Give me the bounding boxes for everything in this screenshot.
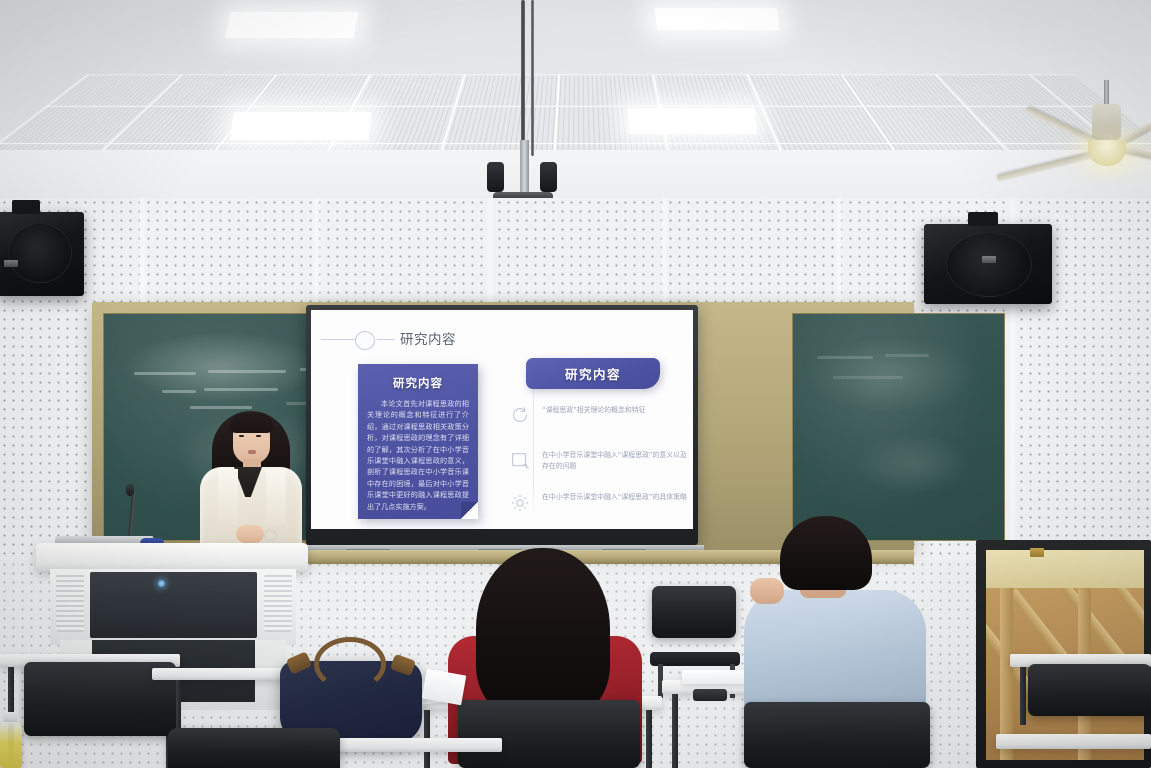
speaker-brand-badge xyxy=(982,256,996,263)
summary-card: 研究内容 本论文首先对课程思政的相关理论的概念和特征进行了介绍，通过对课程思政相… xyxy=(358,364,478,519)
speaker-bracket xyxy=(968,212,998,226)
tea-bottle xyxy=(0,722,22,768)
led-panel-light xyxy=(225,12,359,38)
desk-leg xyxy=(646,710,652,768)
smartphone[interactable] xyxy=(693,689,727,701)
speaker-cone xyxy=(8,223,72,283)
interactive-whiteboard[interactable]: 研究内容 研究内容 本论文首先对课程思政的相关理论的概念和特征进行了介绍，通过对… xyxy=(306,305,698,545)
lattice-header-board xyxy=(986,550,1144,588)
header-rule xyxy=(321,339,357,340)
led-panel-light xyxy=(627,108,757,134)
bullet-text: “课程思政”相关理论的概念和特征 xyxy=(542,405,646,416)
fan-downrod xyxy=(1104,80,1109,106)
lectern-front-panel xyxy=(90,572,257,638)
projector-cable xyxy=(531,0,534,156)
lectern-speaker-grille-left xyxy=(56,574,84,632)
summary-card-title: 研究内容 xyxy=(358,375,478,391)
wall-speaker-left xyxy=(0,212,84,296)
lattice-latch xyxy=(1030,548,1044,557)
lectern-top xyxy=(36,543,308,571)
lectern-speaker-grille-right xyxy=(264,574,292,632)
presenter xyxy=(186,405,316,550)
empty-chair-seat xyxy=(650,652,740,666)
audience-hand xyxy=(750,578,784,604)
crop-add-icon xyxy=(509,450,531,472)
presenter-hands xyxy=(236,525,264,543)
chair[interactable] xyxy=(458,700,640,768)
lectern-power-indicator xyxy=(158,580,165,587)
presentation-slide: 研究内容 研究内容 本论文首先对课程思政的相关理论的概念和特征进行了介绍，通过对… xyxy=(311,310,693,529)
classroom-scene: 研究内容 研究内容 本论文首先对课程思政的相关理论的概念和特征进行了介绍，通过对… xyxy=(0,0,1151,768)
bullet-text: 在中小学音乐课堂中融入“课程思政”的具体策略 xyxy=(542,492,687,503)
desk-leg xyxy=(672,694,678,768)
speaker-cone xyxy=(946,232,1032,297)
presenter-lapel xyxy=(266,469,286,525)
presenter-lapel xyxy=(218,469,238,525)
header-circle-icon xyxy=(355,331,375,350)
empty-chair[interactable] xyxy=(652,586,736,638)
desk-leg xyxy=(1020,667,1026,725)
bullet-item: 在中小学音乐课堂中融入“课程思政”的具体策略 xyxy=(509,492,687,514)
section-banner-title: 研究内容 xyxy=(526,358,660,389)
bullet-text: 在中小学音乐课堂中融入“课程思政”的意义以及存在的问题 xyxy=(542,450,690,471)
audience-hair xyxy=(780,516,872,590)
presenter-fringe xyxy=(230,413,273,433)
bullet-item: “课程思政”相关理论的概念和特征 xyxy=(509,405,646,427)
projector-mount xyxy=(487,162,557,196)
chair[interactable] xyxy=(168,728,340,768)
refresh-icon xyxy=(509,405,531,427)
bullet-item: 在中小学音乐课堂中融入“课程思政”的意义以及存在的问题 xyxy=(509,450,690,472)
desk xyxy=(996,734,1151,749)
slide-header-title: 研究内容 xyxy=(400,328,456,348)
gear-icon xyxy=(509,492,531,514)
chalkboard-right xyxy=(792,313,1005,541)
projection-screen[interactable]: 研究内容 研究内容 本论文首先对课程思政的相关理论的概念和特征进行了介绍，通过对… xyxy=(311,310,693,529)
wall-speaker-right xyxy=(924,224,1052,304)
header-rule xyxy=(377,339,395,340)
led-panel-light xyxy=(230,112,371,140)
speaker-bracket xyxy=(12,200,40,214)
microphone-head xyxy=(126,484,134,496)
chair[interactable] xyxy=(1028,664,1151,716)
presenter-bracelet xyxy=(264,529,277,542)
summary-card-body: 本论文首先对课程思政的相关理论的概念和特征进行了介绍，通过对课程思政相关政策分析… xyxy=(367,398,469,512)
speaker-brand-badge xyxy=(4,260,18,267)
chair[interactable] xyxy=(744,702,930,768)
led-panel-light xyxy=(655,8,780,30)
audience-hair xyxy=(476,548,610,716)
projector-cable xyxy=(521,0,525,150)
desk xyxy=(152,668,288,680)
card-fold-corner xyxy=(461,502,478,519)
presenter-mouth xyxy=(248,450,256,454)
section-banner: 研究内容 xyxy=(526,358,660,389)
handbag-handle xyxy=(314,637,386,691)
